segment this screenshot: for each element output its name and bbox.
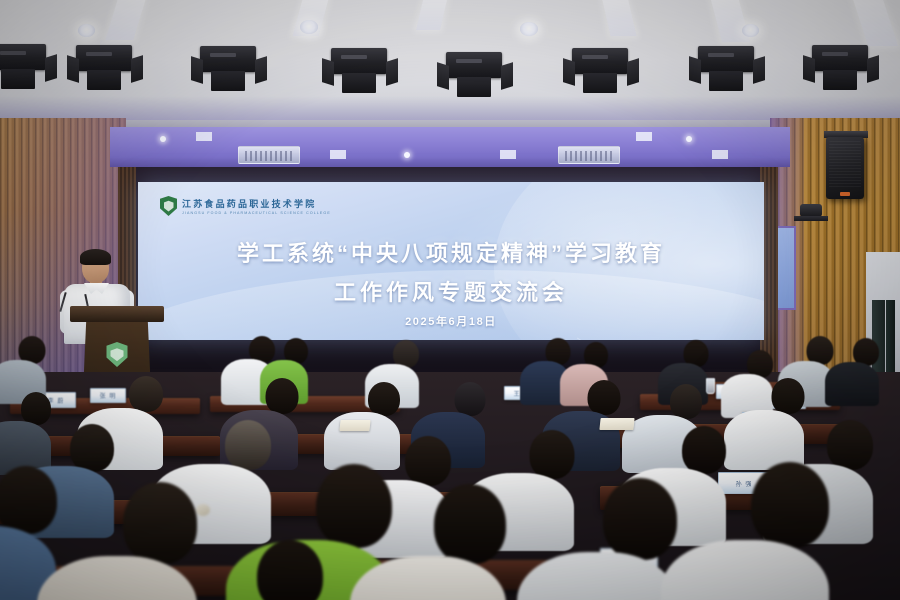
shield-emblem-icon (160, 196, 177, 216)
downlight (520, 22, 538, 36)
ac-cassette-unit (238, 146, 300, 164)
conference-hall-photo: 江苏食品药品职业技术学院 JIANGSU FOOD & PHARMACEUTIC… (0, 0, 900, 600)
downlight (300, 20, 318, 34)
slide-title-line2: 工作作风专题交流会 (138, 275, 764, 307)
camera-shelf (794, 216, 828, 221)
college-logo: 江苏食品药品职业技术学院 JIANGSU FOOD & PHARMACEUTIC… (160, 196, 331, 216)
downlight (78, 24, 95, 37)
ceiling-panel-light (196, 132, 212, 141)
college-name-cn: 江苏食品药品职业技术学院 (182, 197, 331, 210)
document-sheet (599, 418, 634, 430)
hair-clip (196, 504, 210, 516)
wall-speaker (826, 137, 864, 199)
ceiling-downlight (160, 136, 166, 142)
placard-text: 孙 强 (736, 479, 753, 488)
ac-cassette-unit (558, 146, 620, 164)
ceiling-panel-light (500, 150, 516, 159)
ceiling-panel-light (330, 150, 346, 159)
ceiling-panel-light (712, 150, 728, 159)
presenter-hair (80, 249, 111, 265)
stage-ceiling-soffit (110, 127, 790, 167)
college-name-en: JIANGSU FOOD & PHARMACEUTICAL SCIENCE CO… (182, 211, 331, 215)
ceiling-panel-light (636, 132, 652, 141)
placard-text: 张 明 (100, 391, 117, 400)
name-placard: 张 明 (90, 388, 126, 403)
document-sheet (339, 420, 370, 431)
lectern-top (70, 306, 164, 322)
slide-date: 2025年6月18日 (138, 313, 764, 329)
slide-title-line1: 学工系统“中央八项规定精神”学习教育 (138, 236, 764, 268)
water-glass (706, 378, 715, 394)
ceiling-downlight (404, 152, 410, 158)
ceiling-downlight (686, 136, 692, 142)
downlight (742, 24, 759, 37)
projection-screen: 江苏食品药品职业技术学院 JIANGSU FOOD & PHARMACEUTIC… (138, 182, 764, 340)
